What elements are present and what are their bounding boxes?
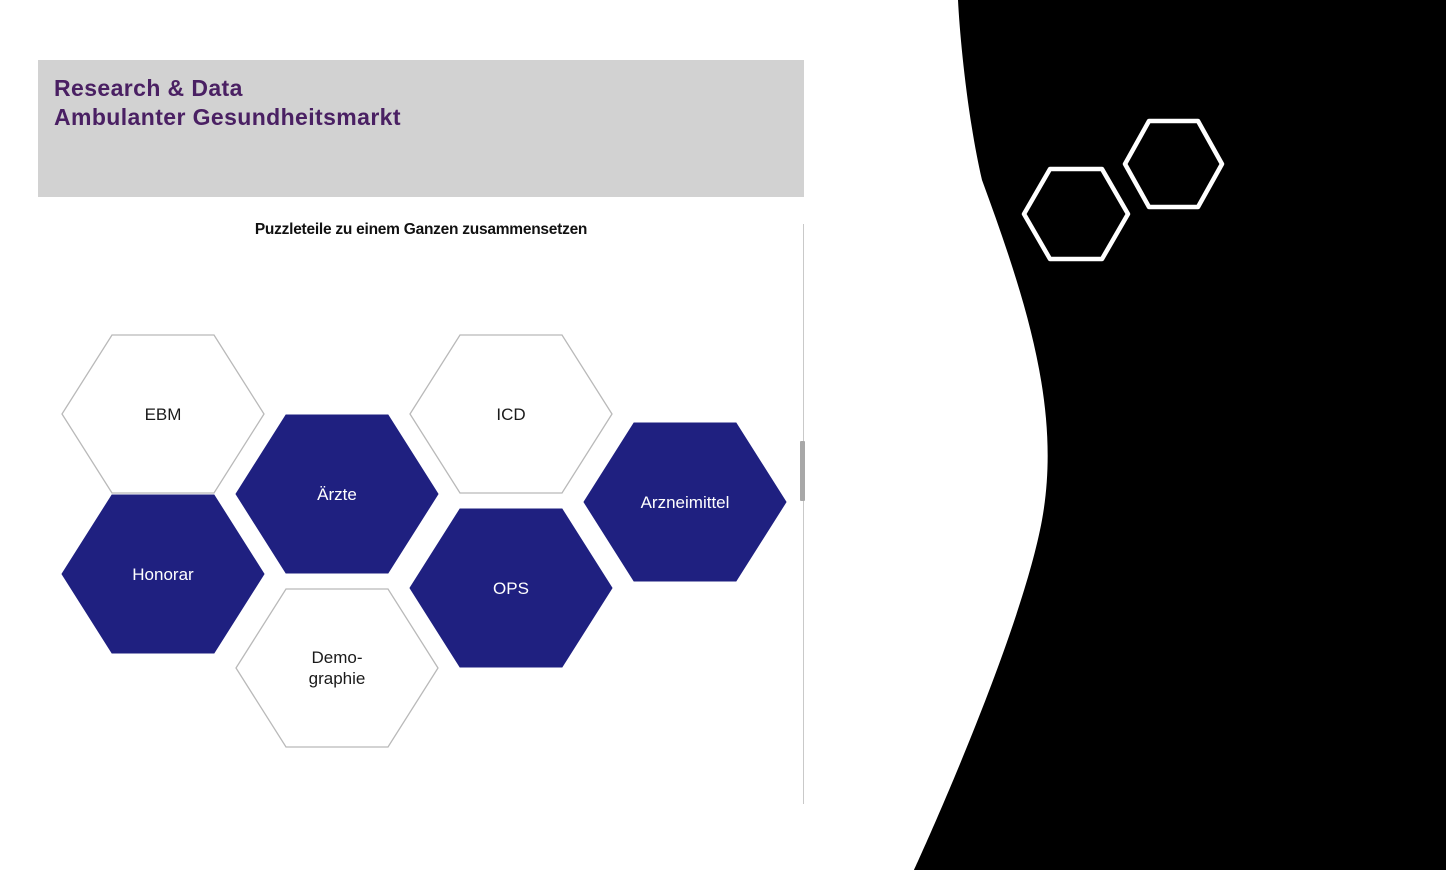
scrollbar-thumb[interactable] [800,441,805,501]
hexagon-shape-icon [409,508,613,668]
decorative-black-panel [830,0,1446,870]
black-wedge-shape [914,0,1446,870]
scrollbar-track[interactable] [803,224,804,804]
hex-cell-arzneimittel[interactable]: Arzneimittel [583,422,787,582]
hexagon-diagram: EBM ICD Ärzte Arzneimittel [0,0,830,870]
hexagon-shape-icon [583,422,787,582]
slide-canvas: Research & Data Ambulanter Gesundheitsma… [0,0,830,870]
hex-cell-ops[interactable]: OPS [409,508,613,668]
hexagon-shape-icon [235,588,439,748]
hex-cell-demographie[interactable]: Demo- graphie [235,588,439,748]
